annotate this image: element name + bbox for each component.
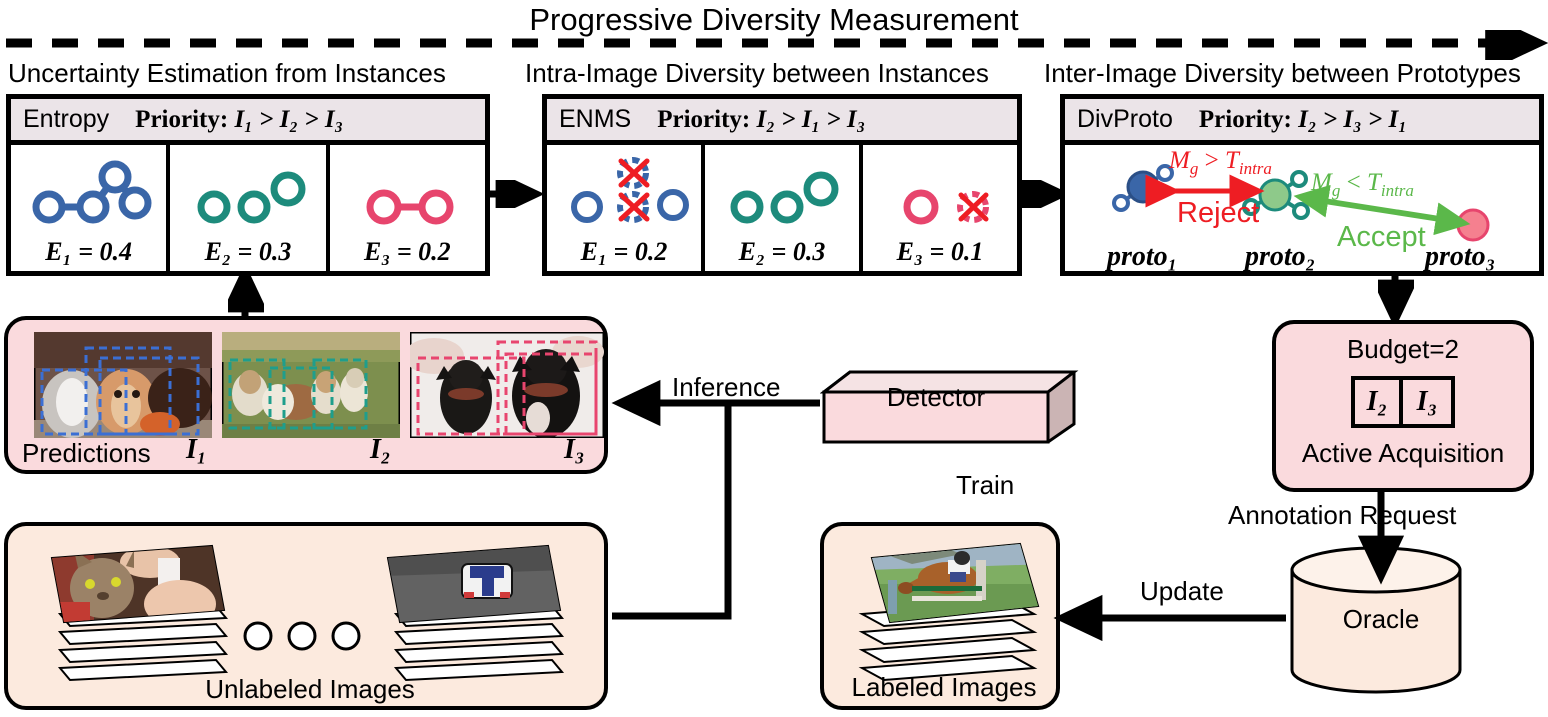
- entropy-cell-1: E₁ = 0.4: [11, 145, 170, 271]
- enms-priority-label: Priority: I₂ > I₁ > I₃: [657, 106, 865, 134]
- instance-graph-blue-icon: [23, 151, 161, 229]
- enms-value-3: E₃ = 0.1: [863, 237, 1017, 267]
- arrow-entropy-to-enms: [488, 180, 546, 208]
- section-label-inter: Inter-Image Diversity between Prototypes: [1044, 58, 1521, 89]
- enms-suppressed-blue-icon: [561, 147, 701, 231]
- divproto-panel: DivProto Priority: I₂ > I₃ > I₁: [1060, 94, 1544, 276]
- proto2-label: proto₂: [1245, 241, 1315, 273]
- instance-graph-teal-icon: [186, 151, 316, 229]
- entropy-cell-2: E₂ = 0.3: [170, 145, 329, 271]
- enms-value-1: E₁ = 0.2: [547, 237, 701, 267]
- progressive-dashed-arrow: [0, 30, 1548, 60]
- annotation-request-edge-label: Annotation Request: [1228, 500, 1456, 531]
- enms-cell-3: E₃ = 0.1: [863, 145, 1017, 271]
- enms-panel-header: ENMS Priority: I₂ > I₁ > I₃: [547, 99, 1017, 145]
- entropy-method-label: Entropy: [11, 105, 109, 134]
- entropy-value-2: E₂ = 0.3: [170, 237, 325, 267]
- enms-teal-icon: [721, 151, 851, 229]
- enms-cell-2: E₂ = 0.3: [705, 145, 863, 271]
- entropy-panel: Entropy Priority: I₁ > I₂ > I₃ E₁ = 0.4: [6, 94, 490, 276]
- proto1-label: proto₁: [1107, 241, 1177, 273]
- entropy-value-3: E₃ = 0.2: [330, 237, 485, 267]
- divproto-method-label: DivProto: [1065, 105, 1173, 134]
- divproto-panel-header: DivProto Priority: I₂ > I₃ > I₁: [1065, 99, 1539, 145]
- enms-panel: ENMS Priority: I₂ > I₁ > I₃ E₁ =: [542, 94, 1022, 276]
- divproto-priority-label: Priority: I₂ > I₃ > I₁: [1199, 106, 1407, 134]
- proto3-label: proto₃: [1425, 241, 1495, 273]
- enms-cell-1: E₁ = 0.2: [547, 145, 705, 271]
- train-edge-label: Train: [956, 470, 1014, 501]
- entropy-panel-header: Entropy Priority: I₁ > I₂ > I₃: [11, 99, 485, 145]
- enms-method-label: ENMS: [547, 105, 631, 134]
- update-edge-label: Update: [1140, 576, 1224, 607]
- instance-graph-pink-icon: [344, 151, 474, 229]
- section-label-intra: Intra-Image Diversity between Instances: [525, 58, 989, 89]
- diagram-canvas: Progressive Diversity Measurement Uncert…: [0, 0, 1548, 717]
- entropy-value-1: E₁ = 0.4: [11, 237, 166, 267]
- enms-value-2: E₂ = 0.3: [705, 237, 859, 267]
- inference-edge-label: Inference: [672, 372, 780, 403]
- accept-label: Accept: [1337, 221, 1426, 254]
- entropy-priority-label: Priority: I₁ > I₂ > I₃: [135, 106, 343, 134]
- divproto-cell: Mg > Tintra Mg < Tintra Reject Accept pr…: [1065, 145, 1539, 271]
- reject-label: Reject: [1177, 197, 1259, 230]
- enms-suppressed-pink-icon: [881, 151, 1011, 229]
- reject-condition-label: Mg > Tintra: [1169, 147, 1272, 179]
- entropy-cell-3: E₃ = 0.2: [330, 145, 485, 271]
- flow-edges: [0, 280, 1548, 717]
- accept-condition-label: Mg < Tintra: [1311, 169, 1414, 201]
- section-label-uncertainty: Uncertainty Estimation from Instances: [8, 58, 446, 89]
